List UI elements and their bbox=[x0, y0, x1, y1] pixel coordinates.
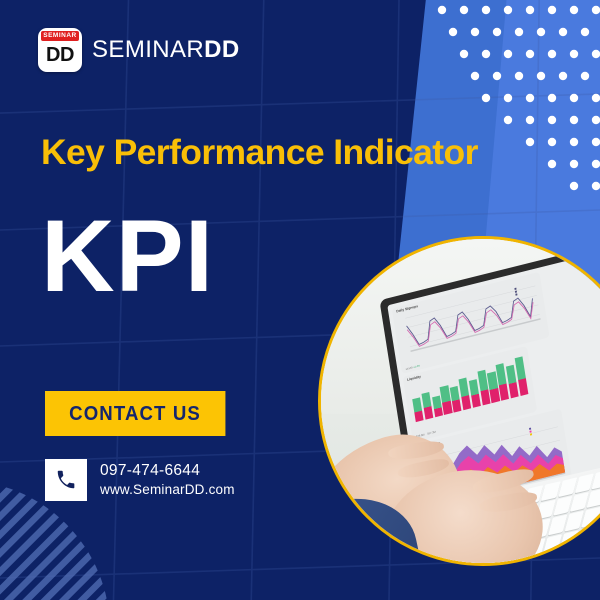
logo-badge-initials: DD bbox=[38, 41, 82, 73]
contact-phone-number[interactable]: 097-474-6644 bbox=[100, 462, 235, 479]
laptop-dashboard-photo: Daily Signups bbox=[318, 236, 600, 566]
contact-us-button[interactable]: CONTACT US bbox=[45, 391, 225, 436]
poster-canvas: SEMINAR DD SEMINARDD Key Performance Ind… bbox=[0, 0, 600, 600]
wordmark-seminar: SEMINAR bbox=[92, 36, 204, 63]
logo-badge-banner: SEMINAR bbox=[41, 31, 79, 41]
phone-icon bbox=[45, 459, 87, 501]
wordmark-dd: DD bbox=[204, 36, 239, 63]
headline-title: KPI bbox=[41, 205, 214, 307]
brand-wordmark: SEMINARDD bbox=[92, 38, 240, 62]
contact-info: 097-474-6644 www.SeminarDD.com bbox=[45, 459, 235, 501]
contact-website[interactable]: www.SeminarDD.com bbox=[100, 483, 235, 498]
headline-subtitle: Key Performance Indicator bbox=[41, 135, 478, 171]
logo-badge: SEMINAR DD bbox=[38, 28, 82, 72]
dot-grid-decoration bbox=[430, 0, 600, 230]
brand-logo[interactable]: SEMINAR DD SEMINARDD bbox=[38, 28, 240, 72]
